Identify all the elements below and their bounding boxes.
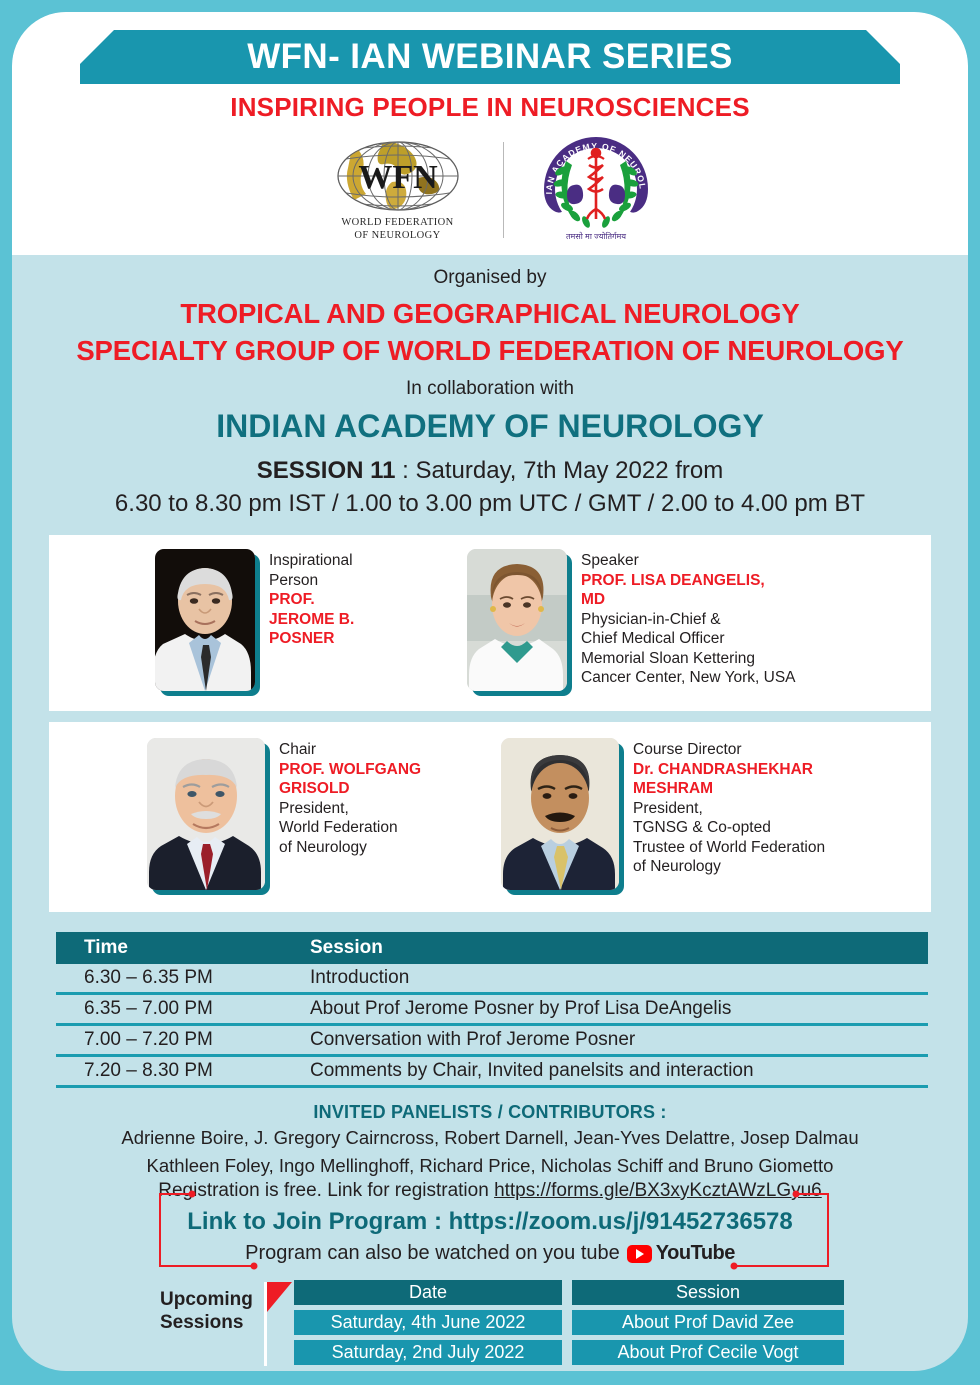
person-name: PROF. WOLFGANGGRISOLD [279,760,421,799]
registration-line: Registration is free. Link for registrat… [12,1180,968,1202]
schedule-header-time: Time [56,937,302,959]
person-name: PROF. LISA DEANGELIS,MD [581,571,796,610]
upcoming-tables: Date Saturday, 4th June 2022 Saturday, 2… [294,1280,844,1371]
youtube-play-icon [627,1245,652,1263]
person-role: InspirationalPerson [269,551,354,590]
schedule-session: About Prof Jerome Posner by Prof Lisa De… [302,998,928,1020]
schedule-time: 6.35 – 7.00 PM [56,998,302,1020]
session-line: SESSION 11 : Saturday, 7th May 2022 from [12,445,968,485]
ian-logo: INDIAN ACADEMY OF NEUROLOGY [530,131,662,249]
collaborator-name: INDIAN ACADEMY OF NEUROLOGY [12,400,968,445]
photo-frame [147,738,265,890]
photo-jerome-posner [155,549,255,691]
poster-card: WFN- IAN WEBINAR SERIES INSPIRING PEOPLE… [12,12,968,1371]
youtube-logo[interactable]: YouTube [627,1242,735,1265]
photo-lisa-deangelis [467,549,567,691]
organiser-line-2: SPECIALTY GROUP OF WORLD FEDERATION OF N… [12,333,968,370]
person-affiliation: President,TGNSG & Co-optedTrustee of Wor… [633,799,825,877]
speaker-panel-top: InspirationalPerson PROF.JEROME B.POSNER [49,535,931,711]
upcoming-session-column: Session About Prof David Zee About Prof … [572,1280,844,1371]
person-text: Course Director Dr. CHANDRASHEKHARMESHRA… [633,738,825,890]
session-times: 6.30 to 8.30 pm IST / 1.00 to 3.00 pm UT… [12,485,968,518]
title-banner: WFN- IAN WEBINAR SERIES [80,30,900,84]
person-card: InspirationalPerson PROF.JEROME B.POSNER [155,549,354,691]
person-text: Speaker PROF. LISA DEANGELIS,MD Physicia… [581,549,796,691]
speaker-panel-bottom: Chair PROF. WOLFGANGGRISOLD President,Wo… [49,722,931,912]
person-text: InspirationalPerson PROF.JEROME B.POSNER [269,549,354,691]
schedule-header-row: Time Session [56,932,928,964]
person-text: Chair PROF. WOLFGANGGRISOLD President,Wo… [279,738,421,890]
schedule-table: Time Session 6.30 – 6.35 PM Introduction… [56,932,928,1088]
schedule-session: Conversation with Prof Jerome Posner [302,1029,928,1051]
flag-marker [256,1280,294,1371]
person-affiliation: President,World Federationof Neurology [279,799,421,858]
schedule-header-session: Session [302,937,928,959]
panelists-line-1: Adrienne Boire, J. Gregory Cairncross, R… [12,1123,968,1151]
schedule-time: 7.20 – 8.30 PM [56,1060,302,1082]
upcoming-session: About Prof David Zee [572,1310,844,1335]
wfn-wordmark-line2: OF NEUROLOGY [341,229,453,242]
upcoming-date: Saturday, 2nd July 2022 [294,1340,562,1365]
photo-frame [467,549,567,691]
photo-chandrashekhar-meshram [501,738,619,890]
upcoming-date: Saturday, 4th June 2022 [294,1310,562,1335]
upcoming-sessions-section: UpcomingSessions Date Saturday, 4th June… [160,1280,860,1371]
session-date: : Saturday, 7th May 2022 from [396,457,724,484]
person-name: Dr. CHANDRASHEKHARMESHRAM [633,760,825,799]
person-name: PROF.JEROME B.POSNER [269,590,354,649]
person-role: Speaker [581,551,796,571]
person-card: Course Director Dr. CHANDRASHEKHARMESHRA… [501,738,825,890]
ian-sanskrit-motto: तमसो मा ज्योतिर्गमय [566,231,626,241]
wfn-globe-icon: WFN [322,138,474,214]
wfn-wordmark-line1: WORLD FEDERATION [341,216,453,229]
youtube-line: Program can also be watched on you tube … [12,1236,968,1265]
logo-divider [503,142,504,238]
photo-wolfgang-grisold [147,738,265,890]
upcoming-header-session: Session [572,1280,844,1305]
wfn-acronym: WFN [358,159,438,196]
person-card: Chair PROF. WOLFGANGGRISOLD President,Wo… [147,738,421,890]
table-row: 7.20 – 8.30 PM Comments by Chair, Invite… [56,1057,928,1088]
upcoming-date-column: Date Saturday, 4th June 2022 Saturday, 2… [294,1280,562,1371]
organised-by-label: Organised by [12,255,968,289]
table-row: 6.35 – 7.00 PM About Prof Jerome Posner … [56,995,928,1026]
person-card: Speaker PROF. LISA DEANGELIS,MD Physicia… [467,549,796,691]
schedule-session: Comments by Chair, Invited panelsits and… [302,1060,928,1082]
upcoming-header-date: Date [294,1280,562,1305]
webinar-poster: WFN- IAN WEBINAR SERIES INSPIRING PEOPLE… [0,0,980,1385]
panelists-line-2: Kathleen Foley, Ingo Mellinghoff, Richar… [12,1151,968,1179]
schedule-time: 6.30 – 6.35 PM [56,967,302,989]
photo-frame [501,738,619,890]
photo-frame [155,549,255,691]
session-label: SESSION 11 [257,457,396,484]
panelists-section: INVITED PANELISTS / CONTRIBUTORS : Adrie… [12,1102,968,1180]
schedule-session: Introduction [302,967,928,989]
person-affiliation: Physician-in-Chief &Chief Medical Office… [581,610,796,688]
wfn-logo: WFN WORLD FEDERATION OF NEUROLOGY [319,134,477,246]
header-section: WFN- IAN WEBINAR SERIES INSPIRING PEOPLE… [12,12,968,255]
upcoming-sessions-label: UpcomingSessions [160,1280,256,1371]
ian-seal-icon: INDIAN ACADEMY OF NEUROLOGY [530,131,662,249]
page-subtitle: INSPIRING PEOPLE IN NEUROSCIENCES [12,92,968,123]
upcoming-session: About Prof Cecile Vogt [572,1340,844,1365]
youtube-text: Program can also be watched on you tube [245,1242,620,1265]
table-row: 6.30 – 6.35 PM Introduction [56,964,928,995]
youtube-wordmark: YouTube [656,1242,735,1265]
registration-section: Registration is free. Link for registrat… [12,1180,968,1265]
organiser-section: Organised by TROPICAL AND GEOGRAPHICAL N… [12,255,968,523]
organiser-line-1: TROPICAL AND GEOGRAPHICAL NEUROLOGY [12,296,968,333]
collaboration-label: In collaboration with [12,369,968,400]
person-role: Course Director [633,740,825,760]
join-program-link[interactable]: Link to Join Program : https://zoom.us/j… [12,1202,968,1236]
page-title: WFN- IAN WEBINAR SERIES [247,37,733,77]
logo-row: WFN WORLD FEDERATION OF NEUROLOGY [12,130,968,250]
schedule-time: 7.00 – 7.20 PM [56,1029,302,1051]
red-flag-icon [256,1280,294,1368]
registration-prefix: Registration is free. Link for registrat… [158,1180,494,1201]
table-row: 7.00 – 7.20 PM Conversation with Prof Je… [56,1026,928,1057]
registration-link[interactable]: https://forms.gle/BX3xyKcztAWzLGyu6 [494,1180,822,1201]
person-role: Chair [279,740,421,760]
panelists-title: INVITED PANELISTS / CONTRIBUTORS : [12,1102,968,1123]
wfn-wordmark: WORLD FEDERATION OF NEUROLOGY [341,216,453,242]
